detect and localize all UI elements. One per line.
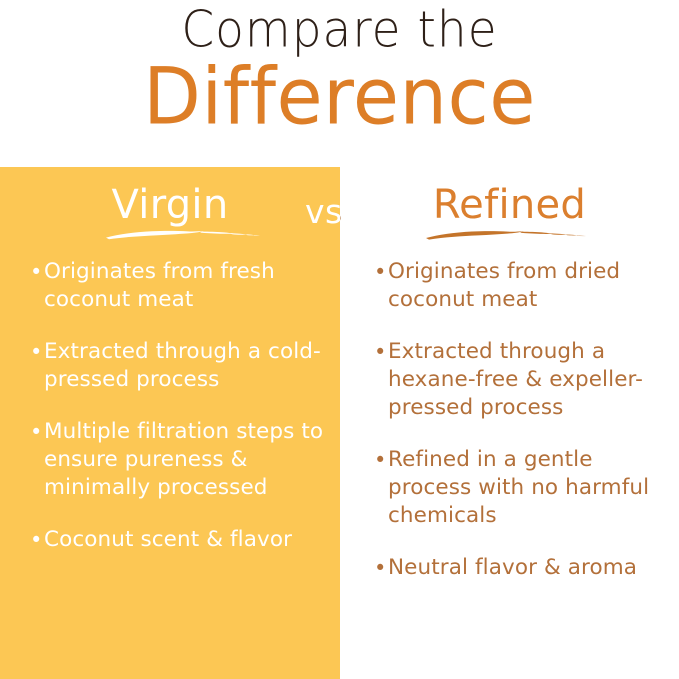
list-item: • Refined in a gentle process with no ha… — [374, 446, 664, 530]
brush-stroke-underline-white-icon — [104, 226, 264, 242]
list-item: • Neutral flavor & aroma — [374, 554, 664, 582]
bullet-dot-icon: • — [374, 258, 388, 286]
bullet-dot-icon: • — [374, 446, 388, 474]
column-heading-virgin-label: Virgin — [112, 182, 229, 228]
brush-stroke-underline-orange-icon — [424, 226, 592, 242]
refined-bullet-list: • Originates from dried coconut meat • E… — [374, 258, 664, 606]
bullet-dot-icon: • — [374, 338, 388, 366]
bullet-dot-icon: • — [30, 258, 44, 286]
list-item-text: Originates from fresh coconut meat — [44, 258, 330, 314]
list-item-text: Multiple filtration steps to ensure pure… — [44, 418, 330, 502]
list-item-text: Refined in a gentle process with no harm… — [388, 446, 664, 530]
bullet-dot-icon: • — [30, 338, 44, 366]
bullet-dot-icon: • — [30, 526, 44, 554]
list-item-text: Neutral flavor & aroma — [388, 554, 664, 582]
virgin-bullet-list: • Originates from fresh coconut meat • E… — [30, 258, 330, 578]
title-line-difference: Difference — [0, 54, 679, 139]
list-item-text: Originates from dried coconut meat — [388, 258, 664, 314]
list-item: • Extracted through a hexane-free & expe… — [374, 338, 664, 422]
list-item-text: Extracted through a hexane-free & expell… — [388, 338, 664, 422]
list-item: • Extracted through a cold-pressed proce… — [30, 338, 330, 394]
column-heading-refined-label: Refined — [433, 182, 586, 228]
list-item: • Originates from dried coconut meat — [374, 258, 664, 314]
compare-difference-infographic: Compare the Difference Virgin Refined vs… — [0, 0, 679, 679]
bullet-dot-icon: • — [374, 554, 388, 582]
column-heading-refined: Refined — [340, 182, 679, 228]
list-item: • Originates from fresh coconut meat — [30, 258, 330, 314]
list-item-text: Coconut scent & flavor — [44, 526, 330, 554]
list-item: • Multiple filtration steps to ensure pu… — [30, 418, 330, 502]
bullet-dot-icon: • — [30, 418, 44, 446]
list-item: • Coconut scent & flavor — [30, 526, 330, 554]
list-item-text: Extracted through a cold-pressed process — [44, 338, 330, 394]
column-heading-virgin: Virgin — [0, 182, 340, 228]
title-block: Compare the Difference — [0, 0, 679, 136]
